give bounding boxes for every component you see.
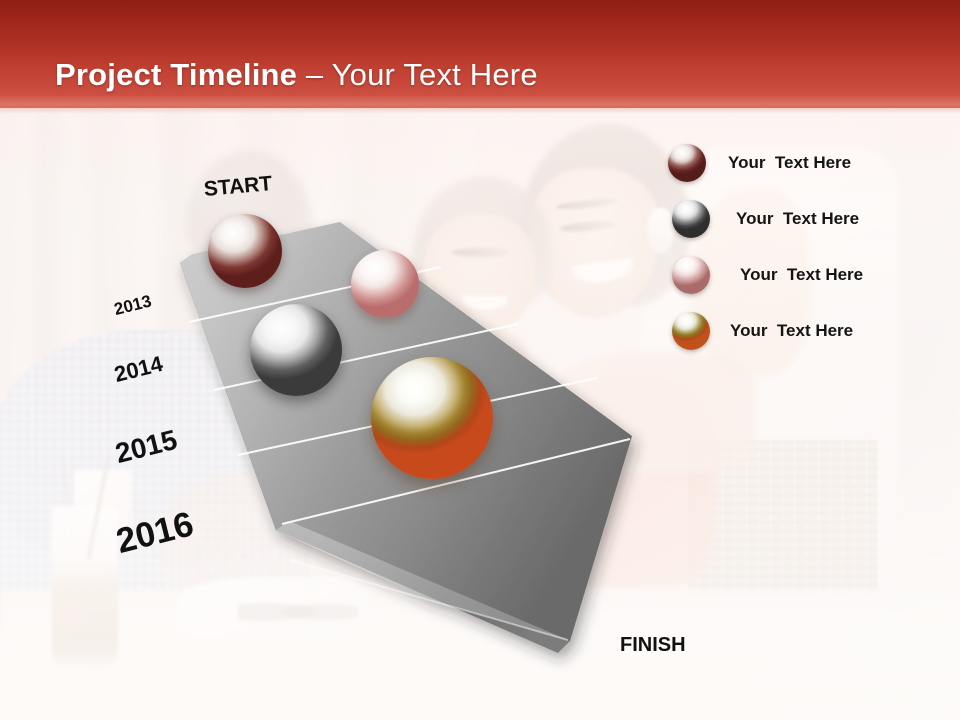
milestone-sphere-start[interactable] (208, 214, 282, 288)
legend-item-1[interactable]: Your Text Here (668, 144, 958, 184)
page-title-regular: – Your Text Here (297, 57, 538, 92)
legend-label-3: Your Text Here (740, 265, 863, 285)
title-bar: Project Timeline – Your Text Here (0, 0, 960, 108)
milestone-sphere-finish[interactable] (371, 357, 493, 479)
legend-label-2: Your Text Here (736, 209, 859, 229)
legend-item-2[interactable]: Your Text Here (672, 200, 960, 240)
legend-bullet-icon-3 (672, 256, 710, 294)
title-bar-glow (0, 96, 960, 114)
legend-item-3[interactable]: Your Text Here (672, 256, 960, 296)
page-title-bold: Project Timeline (55, 57, 297, 92)
legend-label-4: Your Text Here (730, 321, 853, 341)
legend-item-4[interactable]: Your Text Here (672, 312, 960, 352)
milestone-sphere-three[interactable] (250, 304, 342, 396)
legend-bullet-icon-4 (672, 312, 710, 350)
page-title: Project Timeline – Your Text Here (55, 57, 538, 93)
legend-bullet-icon-1 (668, 144, 706, 182)
finish-label: FINISH (620, 634, 686, 657)
slide-canvas: 2013 2014 2015 2016 START FINISH Your Te… (0, 0, 960, 720)
milestone-sphere-two[interactable] (351, 250, 419, 318)
legend-label-1: Your Text Here (728, 153, 851, 173)
legend-bullet-icon-2 (672, 200, 710, 238)
